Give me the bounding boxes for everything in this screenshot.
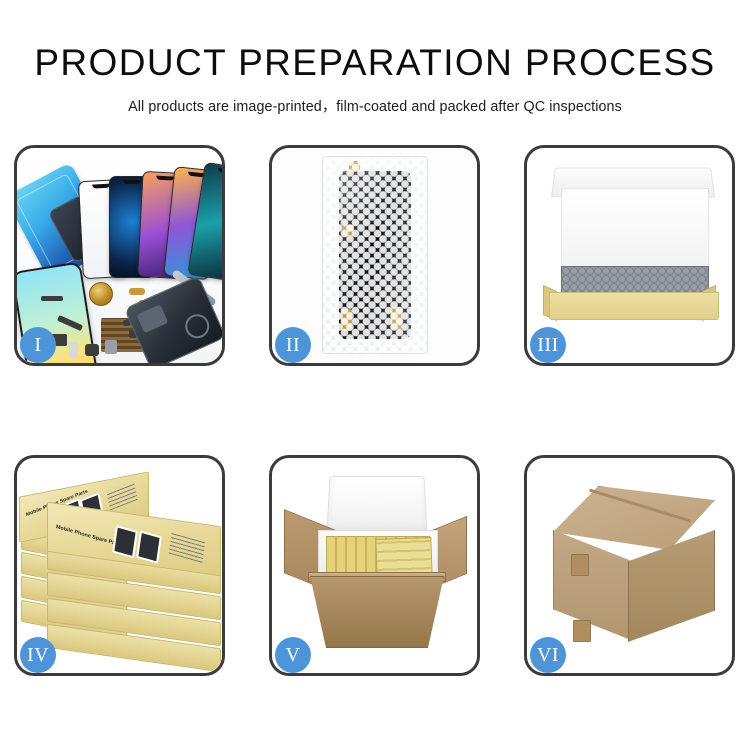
- step-badge-3: III: [530, 327, 566, 363]
- process-step-5[interactable]: Boxes loaded into foam-lined shipping ca…: [269, 455, 480, 676]
- notch-icon: [156, 176, 174, 181]
- speaker-module-icon: [89, 282, 113, 306]
- plastic-sheen: [323, 157, 427, 353]
- step-1-caption: Phone screens, LCD assemblies and spare …: [17, 148, 18, 149]
- part-flex-gold-icon: [129, 288, 145, 295]
- part-sim-tray-icon: [69, 342, 78, 358]
- process-step-3[interactable]: Bubble-wrapped parts placed in kraft box…: [524, 145, 735, 366]
- white-foam-sheet-icon: [561, 188, 709, 272]
- part-vibrator-icon: [105, 340, 117, 354]
- step-badge-4: IV: [20, 637, 56, 673]
- process-step-6[interactable]: Sealed and taped shipping carton VI: [524, 455, 735, 676]
- foam-lid-icon: [326, 476, 427, 534]
- step-badge-6: VI: [530, 637, 566, 673]
- box-window-image: [136, 530, 162, 563]
- packing-tape-icon: [571, 554, 589, 576]
- process-step-4[interactable]: Mobile Phone Spare Parts Mobile Phone Sp…: [14, 455, 225, 676]
- process-step-1[interactable]: Phone screens, LCD assemblies and spare …: [14, 145, 225, 366]
- carton-body-icon: [310, 576, 444, 648]
- step-5-caption: Boxes loaded into foam-lined shipping ca…: [272, 458, 273, 459]
- step-badge-2: II: [275, 327, 311, 363]
- step-2-caption: Part sealed in bubble wrap bag: [272, 148, 273, 149]
- step-badge-5: V: [275, 637, 311, 673]
- part-connector-icon: [41, 296, 63, 301]
- notch-icon: [123, 180, 141, 184]
- step-3-caption: Bubble-wrapped parts placed in kraft box…: [527, 148, 528, 149]
- packing-tape-icon: [573, 620, 591, 642]
- notch-icon: [92, 184, 110, 189]
- kraft-box-front-icon: [549, 292, 719, 320]
- page-title: PRODUCT PREPARATION PROCESS: [0, 0, 750, 83]
- step-6-caption: Sealed and taped shipping carton: [527, 458, 528, 459]
- part-camera-icon: [85, 344, 99, 356]
- carton-right-face-icon: [628, 530, 715, 642]
- retail-box-stack: Mobile Phone Spare Parts Mobile Phone Sp…: [19, 466, 222, 666]
- notch-icon: [218, 168, 222, 175]
- carton-left-face-icon: [553, 530, 631, 640]
- page-subtitle: All products are image-printed，film-coat…: [0, 83, 750, 116]
- phone-display-fan: [83, 162, 203, 278]
- step-4-caption: Sealed retail boxes stacked: [17, 458, 18, 459]
- page-header: PRODUCT PREPARATION PROCESS All products…: [0, 0, 750, 116]
- process-step-2[interactable]: Part sealed in bubble wrap bag II: [269, 145, 480, 366]
- box-window-image: [112, 525, 138, 558]
- bubble-wrap-bag-icon: [322, 156, 428, 354]
- process-grid: Phone screens, LCD assemblies and spare …: [14, 145, 736, 676]
- step-badge-1: I: [20, 327, 56, 363]
